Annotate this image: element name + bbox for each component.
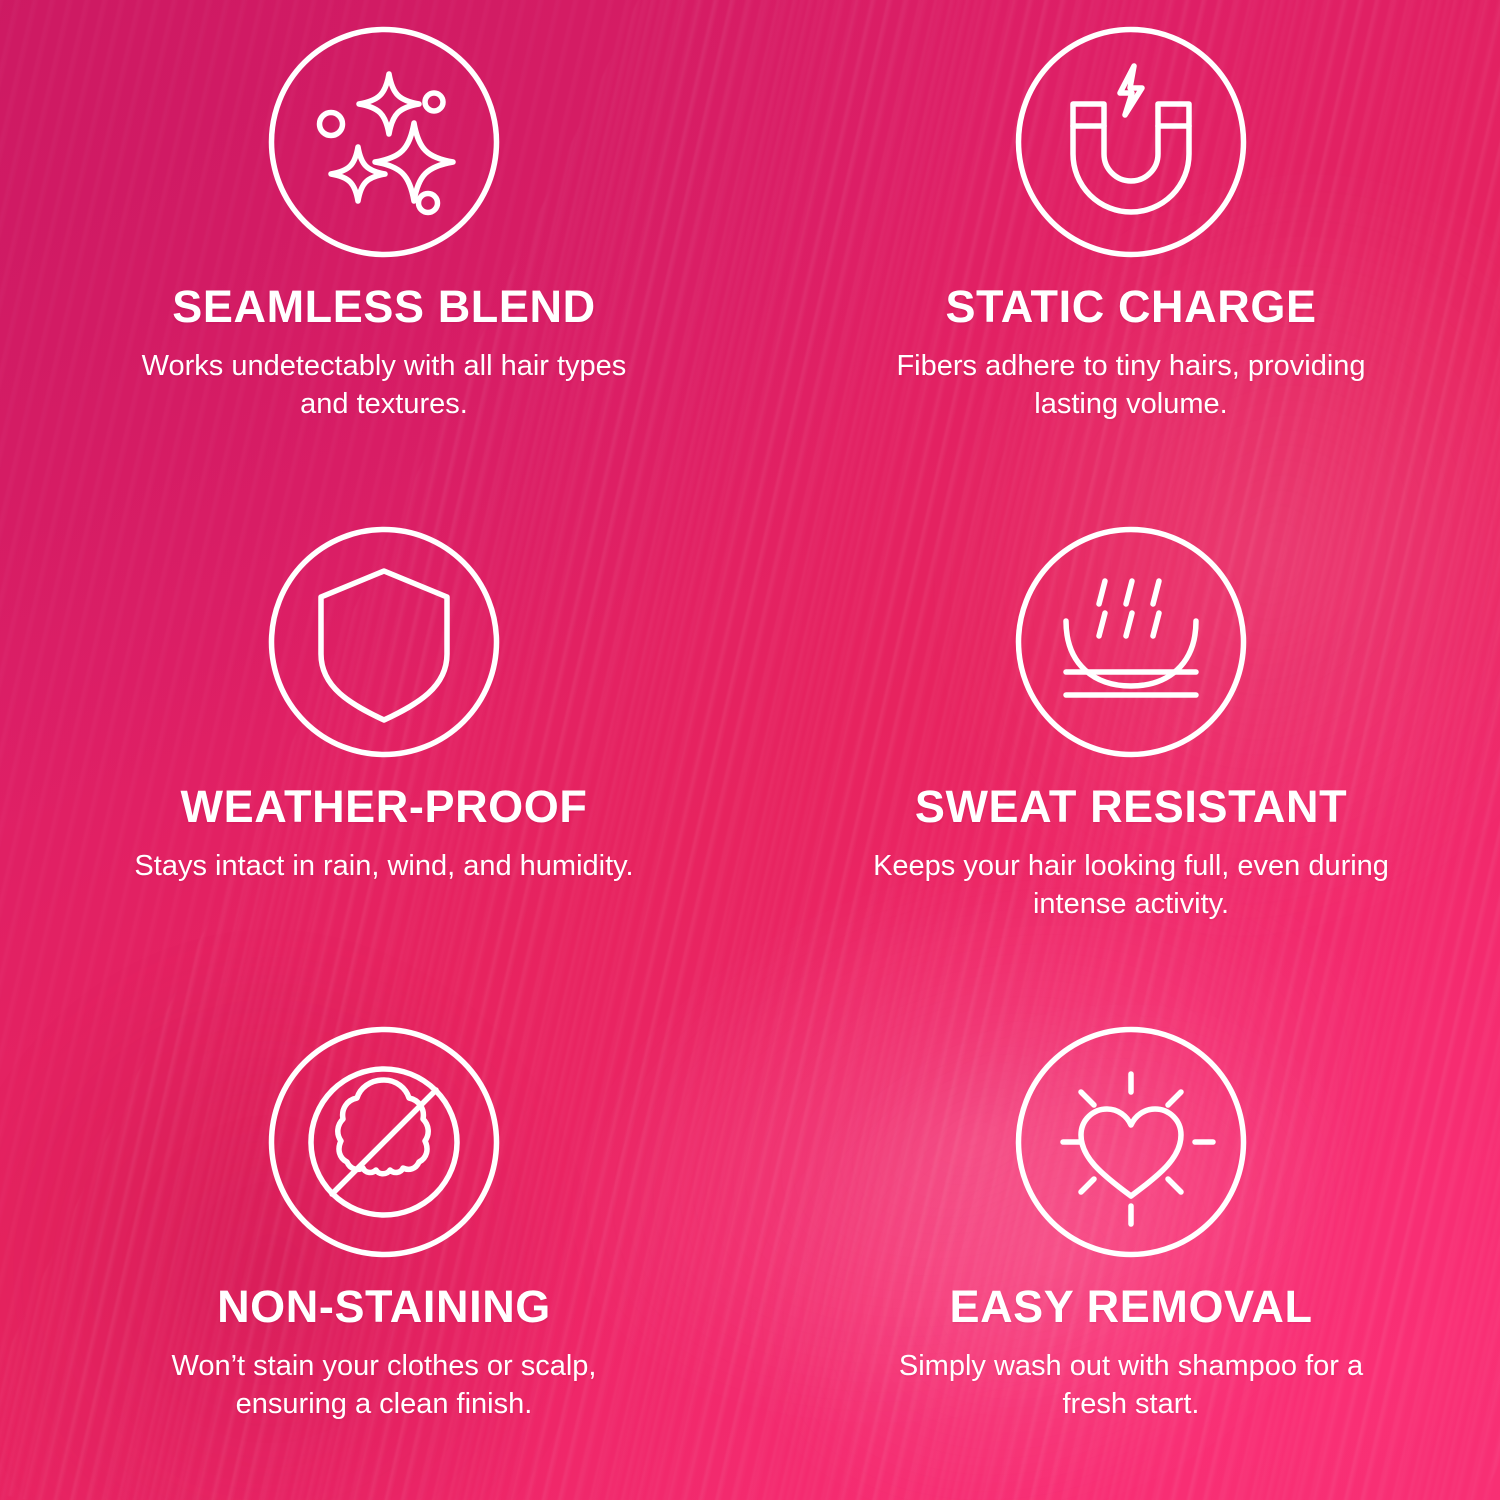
feature-description: Keeps your hair looking full, even durin…	[871, 848, 1391, 924]
feature-title: WEATHER-PROOF	[181, 784, 588, 829]
feature-description: Stays intact in rain, wind, and humidity…	[134, 848, 633, 886]
feature-title: SWEAT RESISTANT	[915, 784, 1347, 829]
features-grid: SEAMLESS BLEND Works undetectably with a…	[0, 0, 1500, 1500]
water-repellent-icon	[1015, 526, 1247, 758]
shining-heart-icon	[1015, 1026, 1247, 1258]
feature-card-non-staining: NON-STAINING Won’t stain your clothes or…	[0, 1000, 750, 1500]
feature-card-weather-proof: WEATHER-PROOF Stays intact in rain, wind…	[0, 500, 750, 1000]
feature-grid-graphic: SEAMLESS BLEND Works undetectably with a…	[0, 0, 1500, 1500]
no-stain-icon	[268, 1026, 500, 1258]
feature-title: SEAMLESS BLEND	[172, 284, 595, 329]
feature-title: STATIC CHARGE	[945, 284, 1316, 329]
feature-card-sweat-resistant: SWEAT RESISTANT Keeps your hair looking …	[750, 500, 1500, 1000]
feature-description: Won’t stain your clothes or scalp, ensur…	[134, 1348, 634, 1424]
feature-card-easy-removal: EASY REMOVAL Simply wash out with shampo…	[750, 1000, 1500, 1500]
magnet-lightning-icon	[1015, 26, 1247, 258]
feature-card-seamless-blend: SEAMLESS BLEND Works undetectably with a…	[0, 0, 750, 500]
feature-description: Fibers adhere to tiny hairs, providing l…	[871, 348, 1391, 424]
feature-description: Works undetectably with all hair types a…	[134, 348, 634, 424]
shield-icon	[268, 526, 500, 758]
feature-description: Simply wash out with shampoo for a fresh…	[871, 1348, 1391, 1424]
feature-title: NON-STAINING	[217, 1284, 551, 1329]
feature-title: EASY REMOVAL	[949, 1284, 1312, 1329]
sparkles-icon	[268, 26, 500, 258]
feature-card-static-charge: STATIC CHARGE Fibers adhere to tiny hair…	[750, 0, 1500, 500]
